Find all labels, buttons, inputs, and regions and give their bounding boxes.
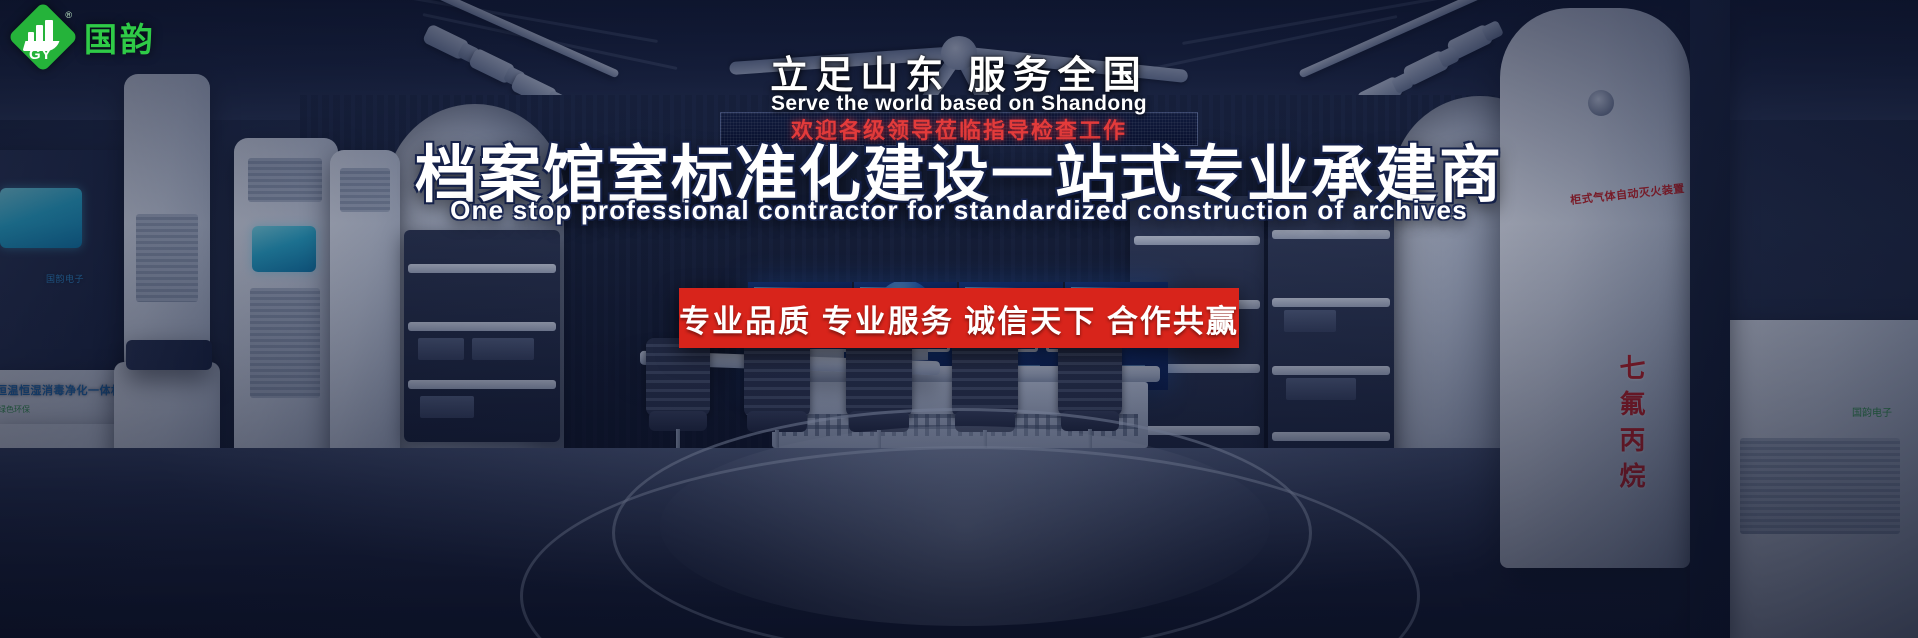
floor-centre-pad [660, 426, 1270, 626]
registered-trademark-icon: ® [65, 10, 72, 20]
shelf-board [1272, 432, 1390, 441]
chair-back [952, 336, 1018, 417]
sensor-icon [1588, 90, 1614, 116]
chair-back [1058, 338, 1122, 416]
pillar-vertical-label: 七氟丙烷 [1612, 354, 1649, 498]
gas-suppression-pillar [1500, 8, 1690, 568]
shelf-box [1284, 310, 1336, 332]
shelf-box [420, 396, 474, 418]
shelf-right-b [1268, 186, 1394, 478]
brand-logo[interactable]: GY ® 国韵 [12, 6, 156, 68]
chair-back [744, 336, 810, 417]
purifier-tower-b [234, 138, 338, 498]
logo-buildings-icon [28, 20, 53, 42]
shelf-board [1272, 366, 1390, 375]
right-cabinet-brand-label: 国韵电子 [1852, 404, 1892, 419]
left-panel-screen [0, 188, 82, 248]
hero-banner: 国韵电子 恒温恒湿消毒净化一体机 绿色环保 [0, 0, 1918, 638]
chair-back [646, 338, 710, 416]
office-chair [646, 338, 710, 464]
shelf-board [408, 264, 556, 273]
gy-diamond-building-logo-icon: GY ® [12, 6, 74, 68]
tower-vent [136, 214, 198, 302]
shelf-box [472, 338, 534, 360]
led-marquee-text: 欢迎各级领导莅临指导检查工作 [791, 113, 1127, 145]
left-cabinet-eco-text: 绿色环保 [0, 404, 30, 415]
shelf-box [1286, 378, 1356, 400]
fan-blade [958, 46, 1188, 83]
led-marquee-display: 欢迎各级领导莅临指导检查工作 [720, 112, 1198, 146]
fan-hub [941, 36, 977, 70]
ac-vent [340, 168, 390, 212]
shelf-left [404, 230, 560, 442]
right-equipment-cabinet: 国韵电子 [1718, 320, 1918, 638]
shelf-board [1272, 230, 1390, 239]
shelf-board [1272, 298, 1390, 307]
left-dark-panel: 国韵电子 [0, 150, 140, 380]
cta-banner[interactable]: 专业品质 专业服务 诚信天下 合作共赢 [679, 288, 1239, 348]
purifier-handle-a [126, 340, 212, 370]
shelf-board [1134, 236, 1260, 245]
ceiling-fan [719, 6, 1199, 96]
tower-vent [248, 158, 322, 202]
shelf-board [408, 322, 556, 331]
purifier-tower-a [124, 74, 210, 374]
ac-unit-c [330, 150, 400, 480]
shelf-board [408, 380, 556, 389]
left-cabinet-brand-label: 国韵电子 [46, 272, 84, 285]
left-cabinet-banner-text: 恒温恒湿消毒净化一体机 [0, 382, 123, 398]
chair-back [846, 336, 912, 417]
tower-screen [252, 226, 316, 272]
brand-name: 国韵 [84, 13, 156, 61]
logo-monogram: GY [29, 46, 52, 63]
right-wall-edge [1690, 0, 1730, 638]
fan-blade [729, 46, 959, 75]
tower-vent [250, 288, 320, 398]
equipment-vent [1740, 438, 1900, 534]
shelf-box [418, 338, 464, 360]
cta-banner-text: 专业品质 专业服务 诚信天下 合作共赢 [679, 296, 1239, 341]
